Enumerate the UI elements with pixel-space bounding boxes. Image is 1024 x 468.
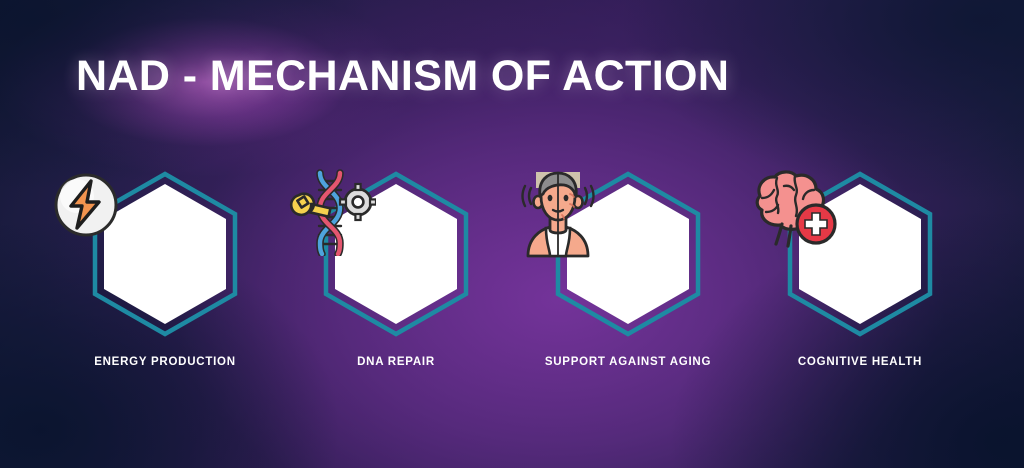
feature-card-dna-repair[interactable]: DNA REPAIR: [280, 168, 512, 408]
card-label: SUPPORT AGAINST AGING: [512, 354, 744, 371]
card-label: DNA REPAIR: [280, 354, 512, 371]
hexagon-badge: [744, 168, 976, 340]
hexagon-inner-fill: [104, 184, 226, 324]
slide-canvas: NAD - MECHANISM OF ACTION ENERGY PRODUCT…: [0, 0, 1024, 468]
card-label: ENERGY PRODUCTION: [49, 354, 281, 371]
hexagon-inner-fill: [335, 184, 457, 324]
hexagon-badge: [280, 168, 512, 340]
feature-card-energy-production[interactable]: ENERGY PRODUCTION: [49, 168, 281, 408]
page-title: NAD - MECHANISM OF ACTION: [76, 54, 729, 99]
feature-card-cognitive-health[interactable]: COGNITIVE HEALTH: [744, 168, 976, 408]
hexagon-inner-fill: [799, 184, 921, 324]
hexagon-badge: [49, 168, 281, 340]
hexagon-inner-fill: [567, 184, 689, 324]
feature-card-row: ENERGY PRODUCTION: [0, 168, 1024, 408]
hexagon-badge: [512, 168, 744, 340]
card-label: COGNITIVE HEALTH: [744, 354, 976, 371]
feature-card-support-against-aging[interactable]: SUPPORT AGAINST AGING: [512, 168, 744, 408]
